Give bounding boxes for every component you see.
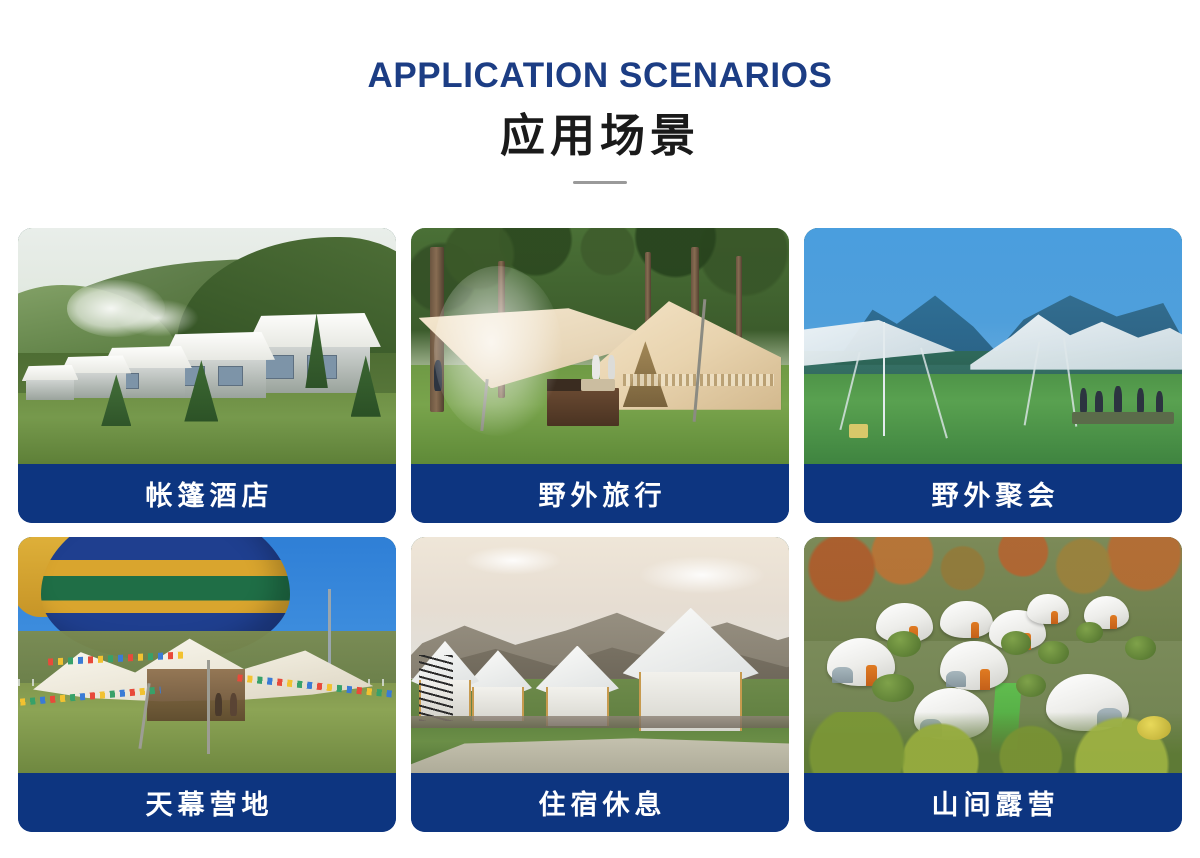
scenario-label-canopy-camp: 天幕营地 [18,773,396,832]
scenario-photo-outdoor-travel [411,228,789,464]
scenario-photo-outdoor-party [804,228,1182,464]
scenario-card-tent-hotel[interactable]: 帐篷酒店 [18,228,396,523]
scenario-card-mountain-camping[interactable]: 山间露营 [804,537,1182,832]
section-header: APPLICATION SCENARIOS 应用场景 [0,0,1200,184]
scenario-label-mountain-camping: 山间露营 [804,773,1182,832]
scenario-card-canopy-camp[interactable]: 天幕营地 [18,537,396,832]
scenario-photo-canopy-camp [18,537,396,773]
application-scenarios-page: APPLICATION SCENARIOS 应用场景 [0,0,1200,858]
scenario-card-grid: 帐篷酒店 [18,228,1182,832]
title-divider [573,181,627,184]
page-title-english: APPLICATION SCENARIOS [0,58,1200,95]
scenario-label-tent-hotel: 帐篷酒店 [18,464,396,523]
scenario-label-accommodation-rest: 住宿休息 [411,773,789,832]
scenario-label-outdoor-travel: 野外旅行 [411,464,789,523]
scenario-photo-mountain-camping [804,537,1182,773]
scenario-card-accommodation-rest[interactable]: 住宿休息 [411,537,789,832]
scenario-card-outdoor-travel[interactable]: 野外旅行 [411,228,789,523]
scenario-card-outdoor-party[interactable]: 野外聚会 [804,228,1182,523]
scenario-photo-accommodation-rest [411,537,789,773]
page-title-chinese: 应用场景 [0,111,1200,161]
scenario-label-outdoor-party: 野外聚会 [804,464,1182,523]
scenario-photo-tent-hotel [18,228,396,464]
